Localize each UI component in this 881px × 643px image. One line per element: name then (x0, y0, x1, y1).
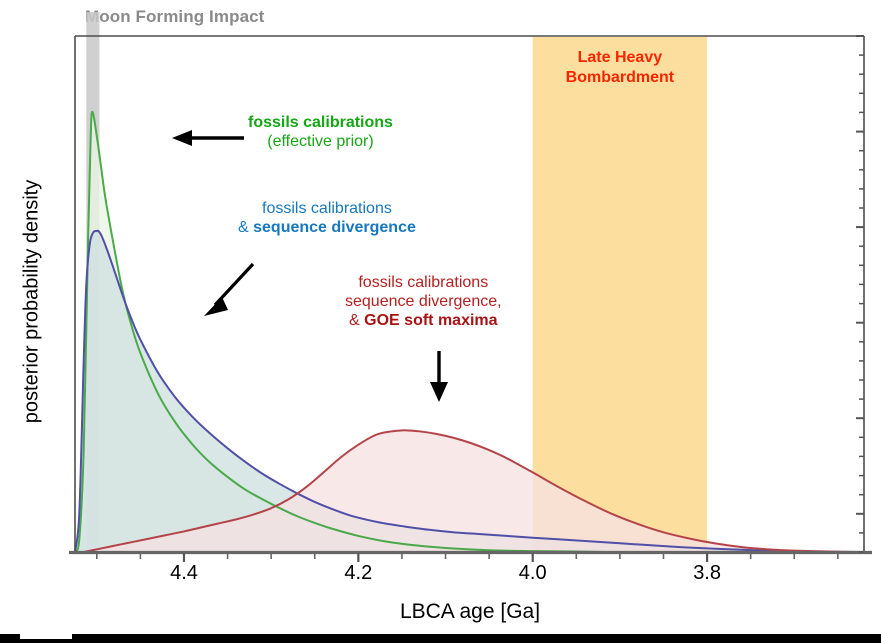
annotation-blue-amp: & (238, 219, 253, 236)
arrow-to-red-curve (430, 351, 448, 402)
lhb-line-2: Bombardment (545, 68, 695, 88)
late-heavy-bombardment-label: Late Heavy Bombardment (545, 48, 695, 87)
annotation-red-line-2: sequence divergence, (345, 293, 502, 312)
arrow-to-blue-curve (204, 264, 253, 316)
bottom-black-rule (0, 634, 881, 643)
bottom-rule-notch (20, 634, 72, 639)
annotation-fossils-sequence: fossils calibrations & sequence divergen… (238, 200, 416, 238)
density-curves-group (75, 112, 864, 552)
annotation-arrows (172, 130, 448, 402)
x-tick-label-3-8: 3.8 (693, 562, 721, 585)
annotation-blue-line-2: & sequence divergence (238, 219, 416, 238)
annotation-green-line-2: (effective prior) (248, 133, 393, 152)
annotation-green-line-1: fossils calibrations (248, 114, 393, 133)
annotation-red-line-1: fossils calibrations (345, 274, 502, 293)
arrow-to-green-curve (172, 130, 244, 146)
annotation-red-line-3: & GOE soft maxima (345, 312, 502, 331)
annotation-red-amp: & (349, 312, 364, 329)
annotation-fossils-calibrations: fossils calibrations (effective prior) (248, 114, 393, 152)
annotation-fossils-sequence-goe: fossils calibrations sequence divergence… (345, 274, 502, 331)
figure-root: Moon Forming Impact posterior probabilit… (0, 0, 881, 643)
annotation-red-bold: GOE soft maxima (364, 312, 497, 329)
x-axis-ticks (97, 553, 838, 562)
x-tick-label-4-4: 4.4 (170, 562, 198, 585)
right-axis-ticks (856, 36, 864, 552)
late-heavy-bombardment-band (533, 37, 707, 552)
annotation-blue-line-1: fossils calibrations (238, 200, 416, 219)
x-tick-label-4-2: 4.2 (344, 562, 372, 585)
x-tick-label-4-0: 4.0 (519, 562, 547, 585)
lhb-line-1: Late Heavy (545, 48, 695, 68)
annotation-blue-bold: sequence divergence (253, 219, 416, 236)
